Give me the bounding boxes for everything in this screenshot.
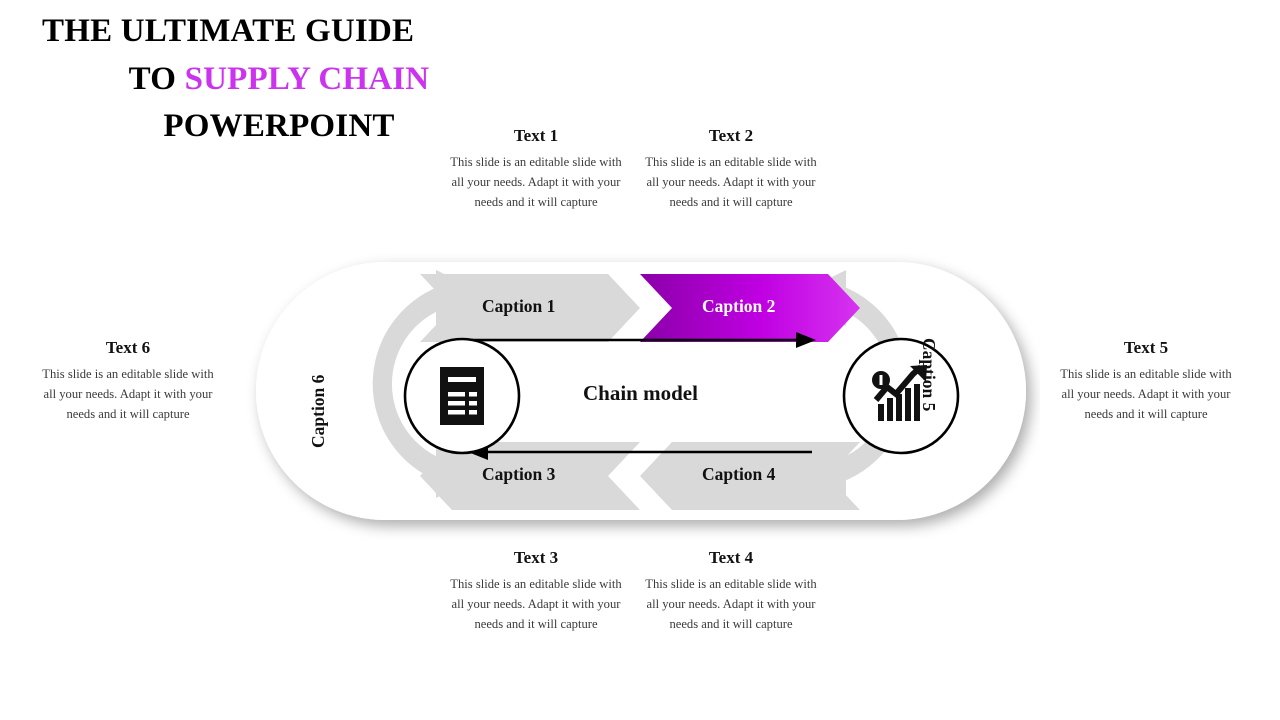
text-block-3: Text 3 This slide is an editable slide w… — [443, 549, 629, 635]
title-line-1: THE ULTIMATE GUIDE — [36, 8, 516, 56]
text-block-4-heading: Text 4 — [638, 549, 824, 566]
text-block-6-heading: Text 6 — [35, 339, 221, 356]
slide-canvas: THE ULTIMATE GUIDE TO SUPPLY CHAIN POWER… — [0, 0, 1280, 720]
title-line-2-prefix: TO — [129, 61, 185, 97]
text-block-2-heading: Text 2 — [638, 127, 824, 144]
text-block-3-heading: Text 3 — [443, 549, 629, 566]
text-block-5-body: This slide is an editable slide with all… — [1053, 365, 1239, 425]
supply-chain-diagram: Caption 1 Caption 2 Caption 3 Caption 4 … — [240, 248, 1040, 540]
title-line-2: TO SUPPLY CHAIN — [36, 56, 516, 104]
center-label: Chain model — [583, 381, 698, 406]
text-block-4-body: This slide is an editable slide with all… — [638, 575, 824, 635]
document-icon — [440, 367, 484, 425]
caption-2-shape — [640, 274, 860, 342]
text-block-6: Text 6 This slide is an editable slide w… — [35, 339, 221, 425]
text-block-2-body: This slide is an editable slide with all… — [638, 153, 824, 213]
text-block-4: Text 4 This slide is an editable slide w… — [638, 549, 824, 635]
text-block-1: Text 1 This slide is an editable slide w… — [443, 127, 629, 213]
caption-5-label[interactable]: Caption 5 — [918, 338, 939, 411]
text-block-1-heading: Text 1 — [443, 127, 629, 144]
text-block-6-body: This slide is an editable slide with all… — [35, 365, 221, 425]
text-block-2: Text 2 This slide is an editable slide w… — [638, 127, 824, 213]
text-block-3-body: This slide is an editable slide with all… — [443, 575, 629, 635]
text-block-1-body: This slide is an editable slide with all… — [443, 153, 629, 213]
text-block-5: Text 5 This slide is an editable slide w… — [1053, 339, 1239, 425]
caption-1-shape — [420, 274, 640, 342]
text-block-5-heading: Text 5 — [1053, 339, 1239, 356]
title-accent: SUPPLY CHAIN — [185, 61, 430, 97]
caption-6-label[interactable]: Caption 6 — [308, 375, 329, 448]
